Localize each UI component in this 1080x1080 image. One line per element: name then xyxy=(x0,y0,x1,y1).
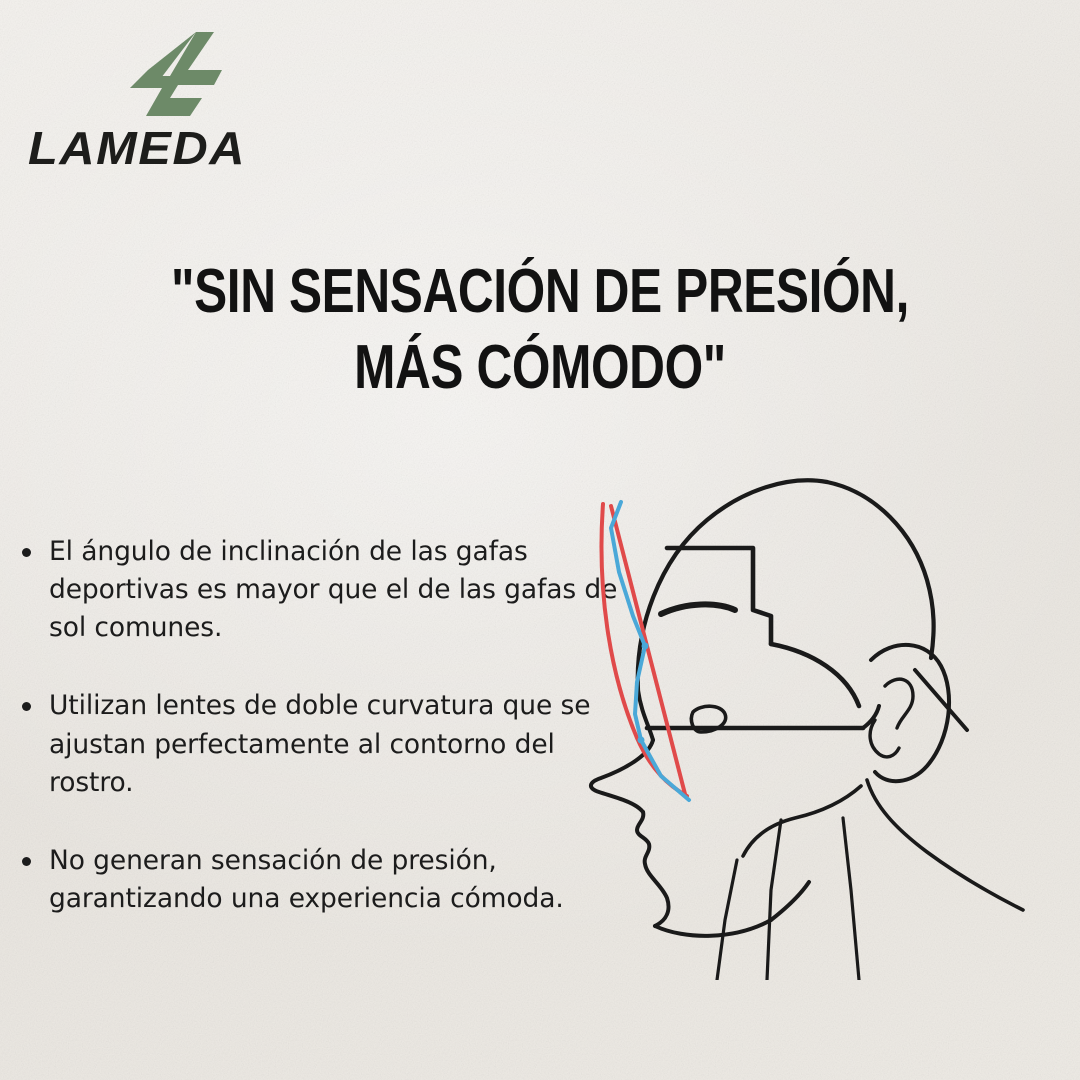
bullet-text: No generan sensación de presión, garanti… xyxy=(49,842,622,918)
headline: "SIN SENSACIÓN DE PRESIÓN, MÁS CÓMODO" xyxy=(0,254,1080,408)
brand-wordmark: LAMEDA xyxy=(28,125,346,171)
feature-bullet-list: El ángulo de inclinación de las gafas de… xyxy=(22,533,622,958)
bullet-text: El ángulo de inclinación de las gafas de… xyxy=(49,533,622,647)
list-item: No generan sensación de presión, garanti… xyxy=(22,842,622,918)
headline-line-2: MÁS CÓMODO" xyxy=(108,330,972,407)
lameda-bolt-four-icon xyxy=(118,30,328,123)
bullet-text: Utilizan lentes de doble curvatura que s… xyxy=(49,687,622,801)
list-item: Utilizan lentes de doble curvatura que s… xyxy=(22,687,622,801)
bullet-dot-icon xyxy=(22,857,31,866)
list-item: El ángulo de inclinación de las gafas de… xyxy=(22,533,622,647)
poster-canvas: LAMEDA "SIN SENSACIÓN DE PRESIÓN, MÁS CÓ… xyxy=(0,0,1080,1080)
bullet-dot-icon xyxy=(22,548,31,557)
brand-logo: LAMEDA xyxy=(28,30,328,171)
head-profile-with-sport-glasses-diagram xyxy=(575,420,1075,980)
bullet-dot-icon xyxy=(22,702,31,711)
headline-line-1: "SIN SENSACIÓN DE PRESIÓN, xyxy=(108,254,972,331)
